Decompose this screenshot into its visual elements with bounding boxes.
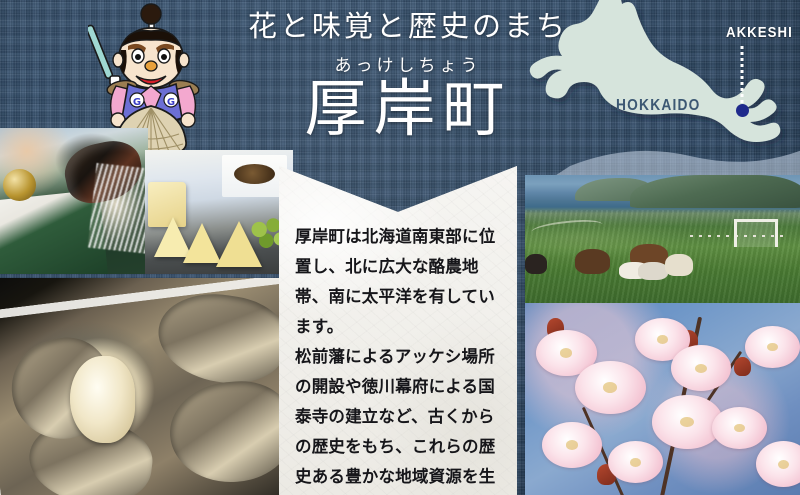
map-region-label: HOKKAIDO xyxy=(616,97,701,115)
cheese-package xyxy=(222,155,287,197)
map-location-marker-dot xyxy=(736,104,749,117)
akkeshi-town-banner: G G 花と味覚と歴史のまち あっけしちょう 厚岸町 xyxy=(0,0,800,495)
cherry-blossom xyxy=(712,407,767,449)
oyster-meat xyxy=(70,356,134,443)
pasture-signboard xyxy=(734,219,778,247)
cheese-wedges-photo xyxy=(145,150,293,274)
svg-text:G: G xyxy=(133,97,141,108)
horse xyxy=(575,249,611,273)
lion-mane xyxy=(87,163,148,254)
cherry-blossom xyxy=(671,345,732,391)
cherry-blossom xyxy=(608,441,663,483)
horse xyxy=(665,254,693,276)
description-panel: 厚岸町は北海道南東部に位置し、北に広大な酪農地帯、南に太平洋を有しています。 松… xyxy=(279,166,517,495)
oysters-in-tray-photo xyxy=(0,278,293,495)
cherry-blossoms-photo xyxy=(525,303,800,495)
cherry-blossom xyxy=(756,441,800,487)
cherry-blossom xyxy=(542,422,603,468)
cherry-blossom xyxy=(575,361,647,415)
horse xyxy=(525,254,547,273)
festival-bell xyxy=(3,169,36,201)
cherry-blossom xyxy=(745,326,800,368)
description-text: 厚岸町は北海道南東部に位置し、北に広大な酪農地帯、南に太平洋を有しています。 松… xyxy=(295,222,505,495)
map-marker-label: AKKESHI xyxy=(726,24,793,41)
horse xyxy=(638,262,668,280)
coastal-cliff xyxy=(630,175,800,208)
lion-dance-festival-photo xyxy=(0,128,148,274)
svg-text:G: G xyxy=(167,97,175,108)
cherry-bud xyxy=(734,357,751,376)
horses-coastal-pasture-photo xyxy=(525,175,800,303)
hokkaido-map: HOKKAIDO AKKESHI xyxy=(530,0,800,192)
